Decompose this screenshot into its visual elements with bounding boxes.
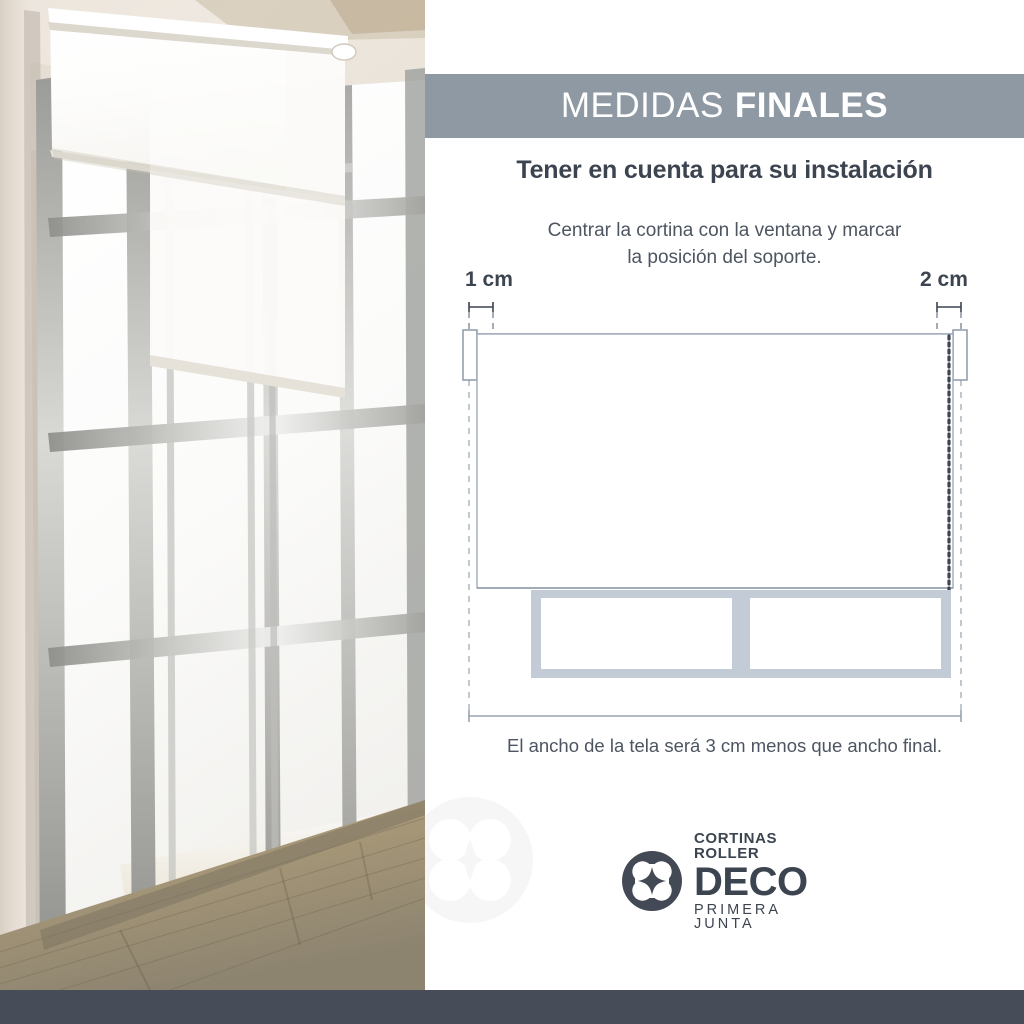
content-panel: MEDIDAS FINALES Tener en cuenta para su … xyxy=(425,0,1024,990)
logo-wordmark: CORTINAS ROLLER DECO PRIMERA JUNTA xyxy=(694,831,826,932)
window-frame xyxy=(531,590,951,678)
deco-flower-icon xyxy=(621,850,683,912)
left-measure-label: 1 cm xyxy=(465,268,513,292)
footnote-text: El ancho de la tela será 3 cm menos que … xyxy=(425,735,1024,757)
page-subtitle: Tener en cuenta para su instalación xyxy=(425,156,1024,185)
header-title-bold: FINALES xyxy=(735,86,888,126)
right-mounting-bracket xyxy=(953,330,967,380)
right-dimension-bracket xyxy=(937,302,961,312)
window-pane-left xyxy=(541,598,732,669)
right-measure-label: 2 cm xyxy=(920,268,968,292)
logo-main-line: DECO xyxy=(694,862,826,902)
logo-bottom-line: PRIMERA JUNTA xyxy=(694,903,826,932)
watermark-logo xyxy=(425,795,535,925)
instruction-line-1: Centrar la cortina con la ventana y marc… xyxy=(425,218,1024,245)
header-bar: MEDIDAS FINALES xyxy=(425,74,1024,138)
left-dimension-bracket xyxy=(469,302,493,312)
installation-diagram xyxy=(425,290,1024,730)
instruction-text: Centrar la cortina con la ventana y marc… xyxy=(425,218,1024,272)
logo-top-line: CORTINAS ROLLER xyxy=(694,831,826,861)
footer-bar xyxy=(0,990,1024,1024)
header-title-light: MEDIDAS xyxy=(561,86,724,126)
brand-logo: CORTINAS ROLLER DECO PRIMERA JUNTA xyxy=(621,845,826,917)
installation-photo xyxy=(0,0,425,990)
window-pane-right xyxy=(750,598,941,669)
poster-canvas: MEDIDAS FINALES Tener en cuenta para su … xyxy=(0,0,1024,1024)
left-mounting-bracket xyxy=(463,330,477,380)
total-width-dimension-line xyxy=(469,710,961,722)
blind-fabric-panel xyxy=(477,334,953,588)
header-title: MEDIDAS FINALES xyxy=(561,86,888,126)
